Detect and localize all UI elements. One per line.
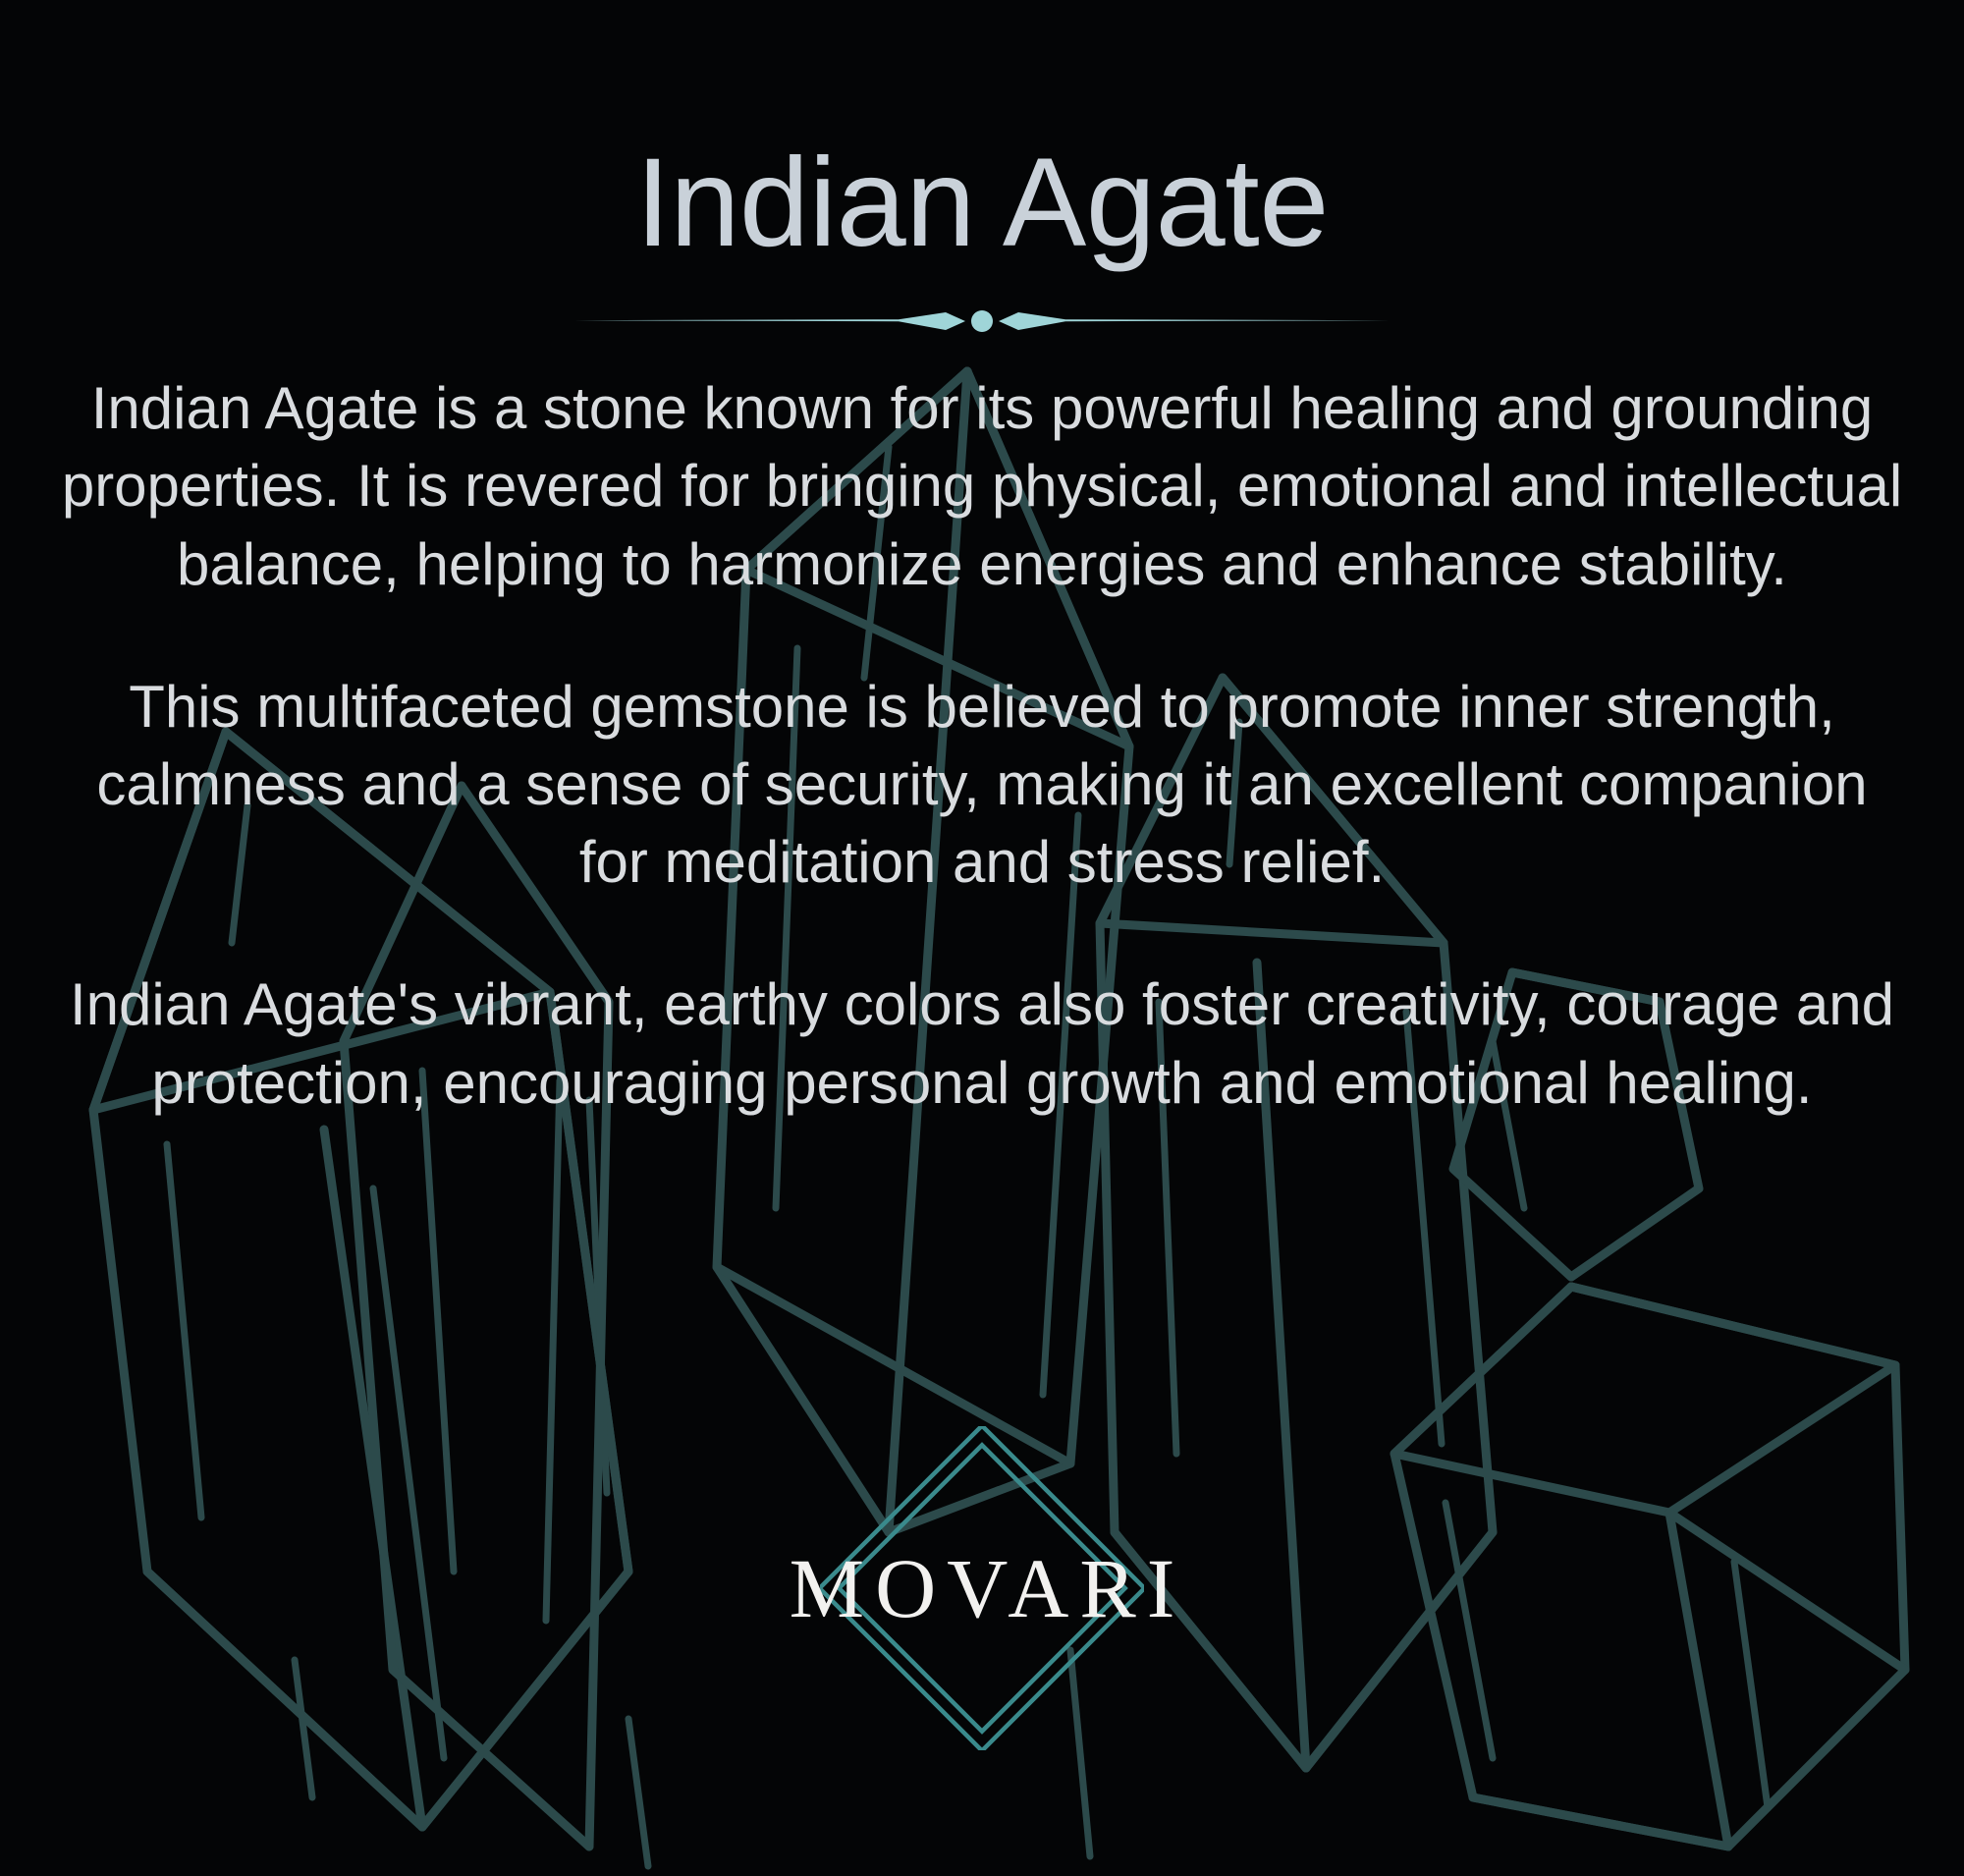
paragraph-3: Indian Agate's vibrant, earthy colors al… bbox=[59, 966, 1905, 1121]
brand-wordmark: MOVARI bbox=[779, 1546, 1186, 1630]
page-title: Indian Agate bbox=[635, 0, 1329, 271]
gemstone-info-poster: Indian Agate Indian Agate is a stone kno… bbox=[0, 0, 1964, 1876]
poster-content: Indian Agate Indian Agate is a stone kno… bbox=[0, 0, 1964, 1876]
paragraph-2: This multifaceted gemstone is believed t… bbox=[59, 668, 1905, 902]
brand-logo: MOVARI bbox=[0, 1426, 1964, 1750]
center-dot bbox=[971, 310, 993, 332]
ornamental-divider bbox=[574, 299, 1390, 344]
body-copy: Indian Agate is a stone known for its po… bbox=[59, 369, 1905, 1122]
paragraph-1: Indian Agate is a stone known for its po… bbox=[59, 369, 1905, 603]
